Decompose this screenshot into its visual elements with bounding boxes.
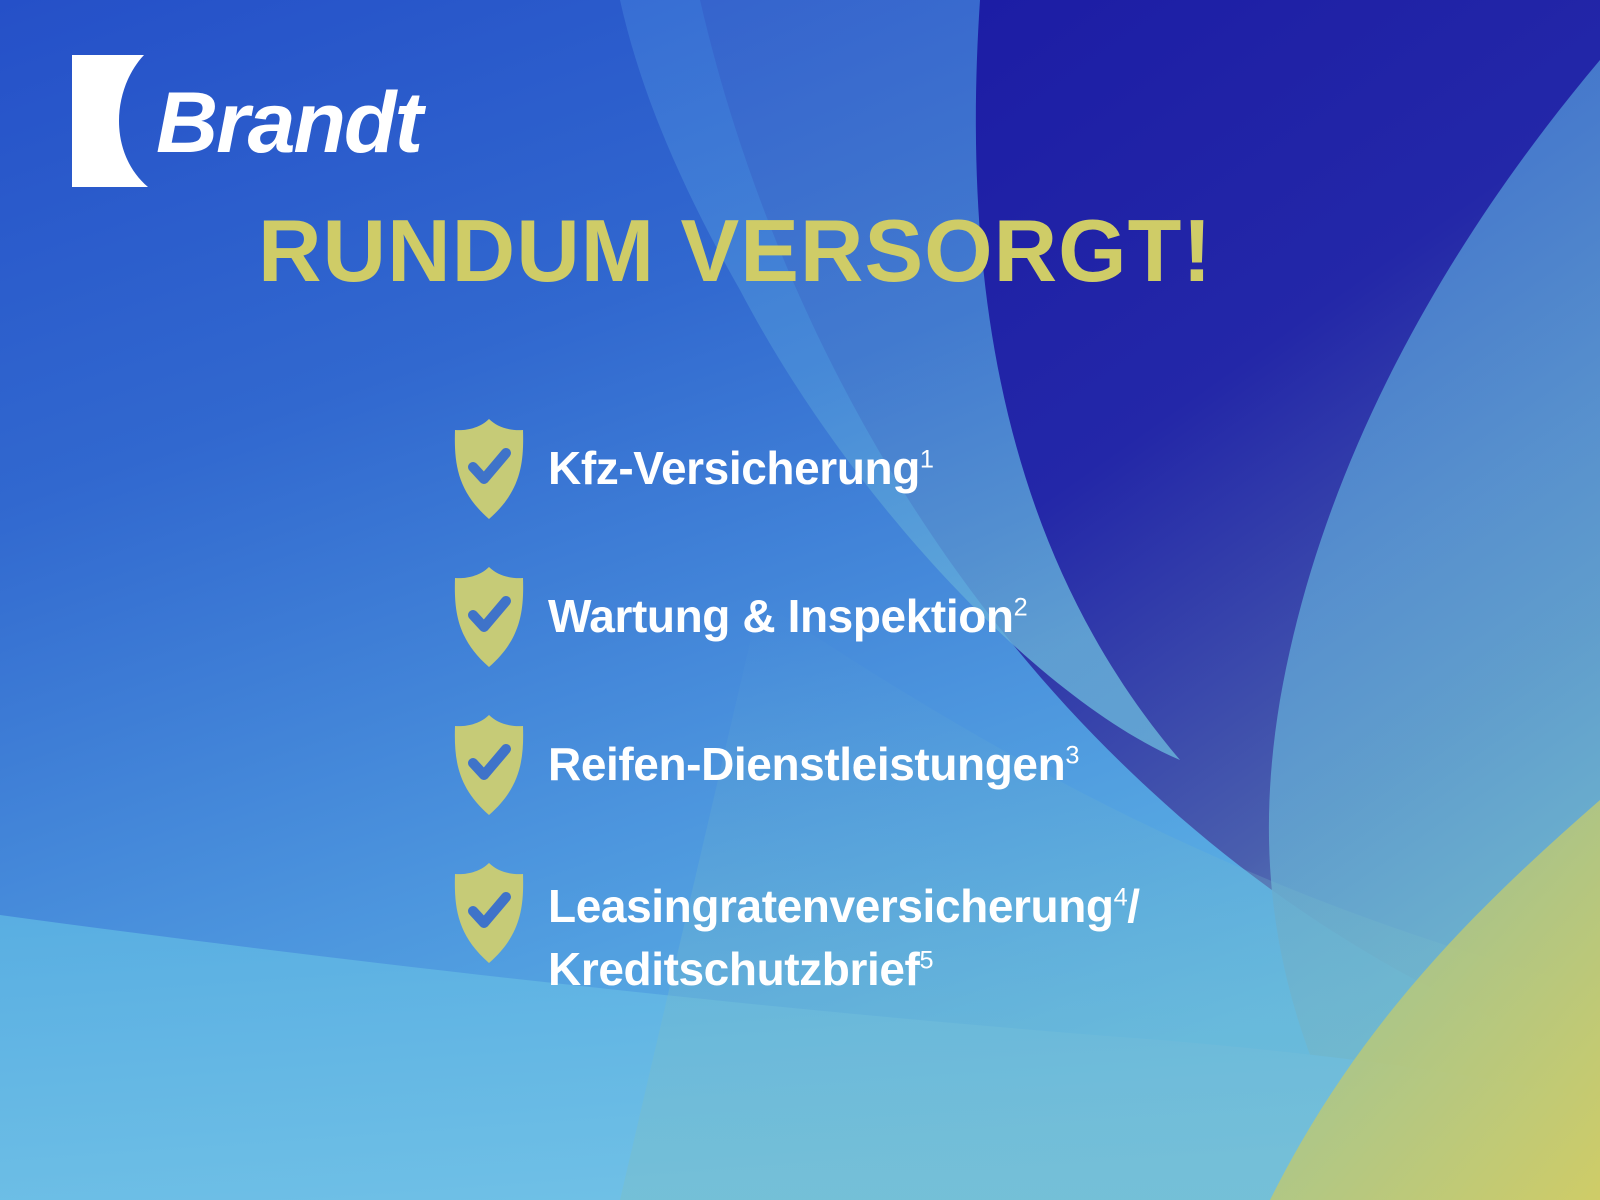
feature-label-text: Wartung & Inspektion [548,590,1014,642]
feature-label-text: Leasingratenversicherung [548,880,1114,932]
list-item: Reifen-Dienstleistungen3 [450,711,1450,817]
footnote-marker: 1 [920,446,934,474]
feature-list: Kfz-Versicherung1 Wartung & Inspektion2 … [450,415,1450,1002]
list-item: Leasingratenversicherung4/ Kreditschutzb… [450,859,1450,1002]
list-item-label: Wartung & Inspektion2 [548,585,1027,648]
list-item: Kfz-Versicherung1 [450,415,1450,521]
brand-logo: Brandt [72,55,421,187]
footnote-marker: 3 [1065,742,1079,770]
feature-label-text: Reifen-Dienstleistungen [548,738,1065,790]
shield-check-icon [450,861,528,965]
list-item-label: Leasingratenversicherung4/ Kreditschutzb… [548,875,1450,1002]
label-separator: / [1127,880,1139,932]
promo-banner: Brandt RUNDUM VERSORGT! Kfz-Versicherung… [0,0,1600,1200]
shield-check-icon [450,417,528,521]
list-item-label: Reifen-Dienstleistungen3 [548,733,1079,796]
brand-wordmark: Brandt [156,80,421,166]
list-item: Wartung & Inspektion2 [450,563,1450,669]
page-title: RUNDUM VERSORGT! [258,205,1213,297]
shield-check-icon [450,713,528,817]
brandt-bracket-mark-icon [72,55,152,187]
list-item-label: Kfz-Versicherung1 [548,437,934,500]
feature-label-text: Kfz-Versicherung [548,442,920,494]
shield-check-icon [450,565,528,669]
footnote-marker: 2 [1014,594,1028,622]
footnote-marker: 4 [1114,884,1128,912]
feature-label-text-secondary: Kreditschutzbrief [548,943,919,995]
footnote-marker-secondary: 5 [919,947,933,975]
